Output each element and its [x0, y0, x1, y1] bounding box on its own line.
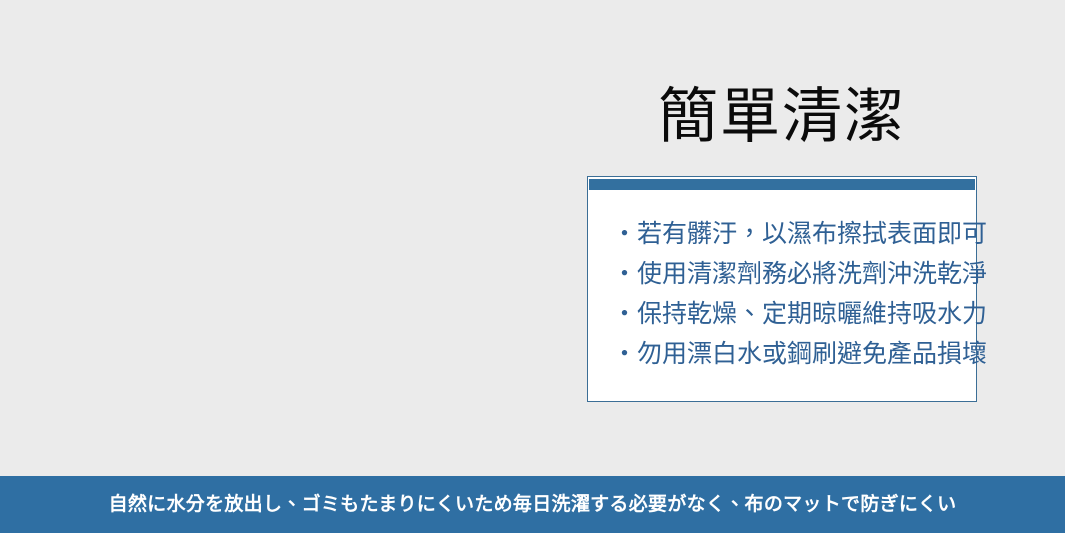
heading-block: 簡單清潔 [587, 78, 977, 156]
list-item: ・保持乾燥、定期晾曬維持吸水力 [612, 294, 976, 334]
list-item-label: 若有髒汙，以濕布擦拭表面即可 [637, 219, 987, 248]
bullet-icon: ・ [612, 219, 637, 248]
care-instructions-panel: ・若有髒汙，以濕布擦拭表面即可 ・使用清潔劑務必將洗劑沖洗乾淨 ・保持乾燥、定期… [587, 176, 977, 402]
page-title: 簡單清潔 [587, 78, 977, 156]
list-item-label: 使用清潔劑務必將洗劑沖洗乾淨 [637, 259, 987, 288]
list-item: ・使用清潔劑務必將洗劑沖洗乾淨 [612, 254, 976, 294]
list-item-label: 勿用漂白水或鋼刷避免產品損壞 [637, 339, 987, 368]
promo-slide: 簡單清潔 ・若有髒汙，以濕布擦拭表面即可 ・使用清潔劑務必將洗劑沖洗乾淨 ・保持… [0, 0, 1065, 533]
bottom-banner: 自然に水分を放出し、ゴミもたまりにくいため毎日洗濯する必要がなく、布のマットで防… [0, 476, 1065, 533]
bullet-icon: ・ [612, 339, 637, 368]
list-item: ・勿用漂白水或鋼刷避免產品損壞 [612, 334, 976, 374]
list-item-label: 保持乾燥、定期晾曬維持吸水力 [637, 299, 987, 328]
list-item: ・若有髒汙，以濕布擦拭表面即可 [612, 214, 976, 254]
bottom-banner-label: 自然に水分を放出し、ゴミもたまりにくいため毎日洗濯する必要がなく、布のマットで防… [109, 491, 957, 519]
bullet-icon: ・ [612, 259, 637, 288]
care-instructions-list: ・若有髒汙，以濕布擦拭表面即可 ・使用清潔劑務必將洗劑沖洗乾淨 ・保持乾燥、定期… [588, 190, 976, 374]
bullet-icon: ・ [612, 299, 637, 328]
panel-accent-bar [589, 179, 975, 190]
